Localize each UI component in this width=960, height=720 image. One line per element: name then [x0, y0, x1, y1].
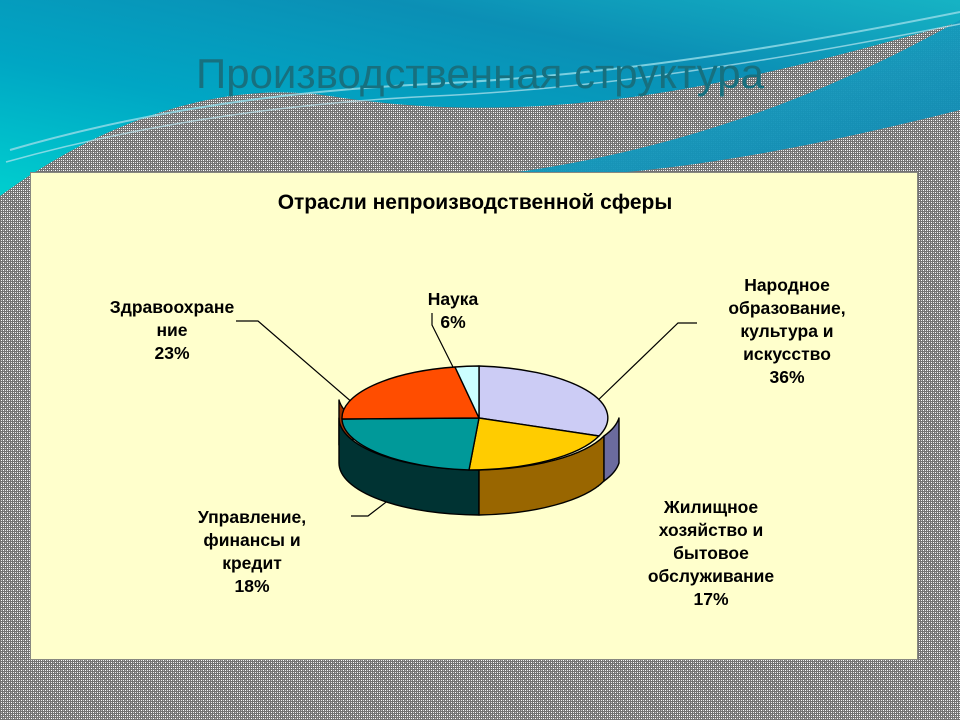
chart-panel: Отрасли непроизводственной сферы: [30, 172, 918, 660]
pie-label-education: Народное образование, культура и искусст…: [679, 251, 895, 413]
pie-top-face: [342, 366, 608, 470]
presentation-slide: Производственная структура Отрасли непро…: [0, 0, 960, 720]
pie-label-housing-name: Жилищное хозяйство и бытовое обслуживани…: [648, 497, 774, 586]
header-wave-decoration: [0, 0, 960, 200]
pie-label-finance-pct: 18%: [141, 575, 363, 598]
pie-label-housing: Жилищное хозяйство и бытовое обслуживани…: [591, 473, 831, 635]
pie-label-housing-pct: 17%: [591, 588, 831, 611]
pie-label-finance: Управление, финансы и кредит 18%: [141, 483, 363, 622]
pie-label-education-pct: 36%: [679, 366, 895, 389]
pie-label-finance-name: Управление, финансы и кредит: [198, 507, 306, 573]
pie-label-health: Здравоохране ние 23%: [67, 273, 277, 388]
pie-label-science-name: Наука: [428, 289, 479, 309]
pie-side-education: [604, 418, 619, 481]
pie-label-health-name: Здравоохране ние: [110, 297, 234, 340]
page-title: Производственная структура: [0, 50, 960, 98]
pie-label-health-pct: 23%: [67, 342, 277, 365]
pie-label-science: Наука 6%: [383, 265, 523, 357]
pie-label-science-pct: 6%: [383, 311, 523, 334]
pie-label-education-name: Народное образование, культура и искусст…: [728, 275, 845, 364]
